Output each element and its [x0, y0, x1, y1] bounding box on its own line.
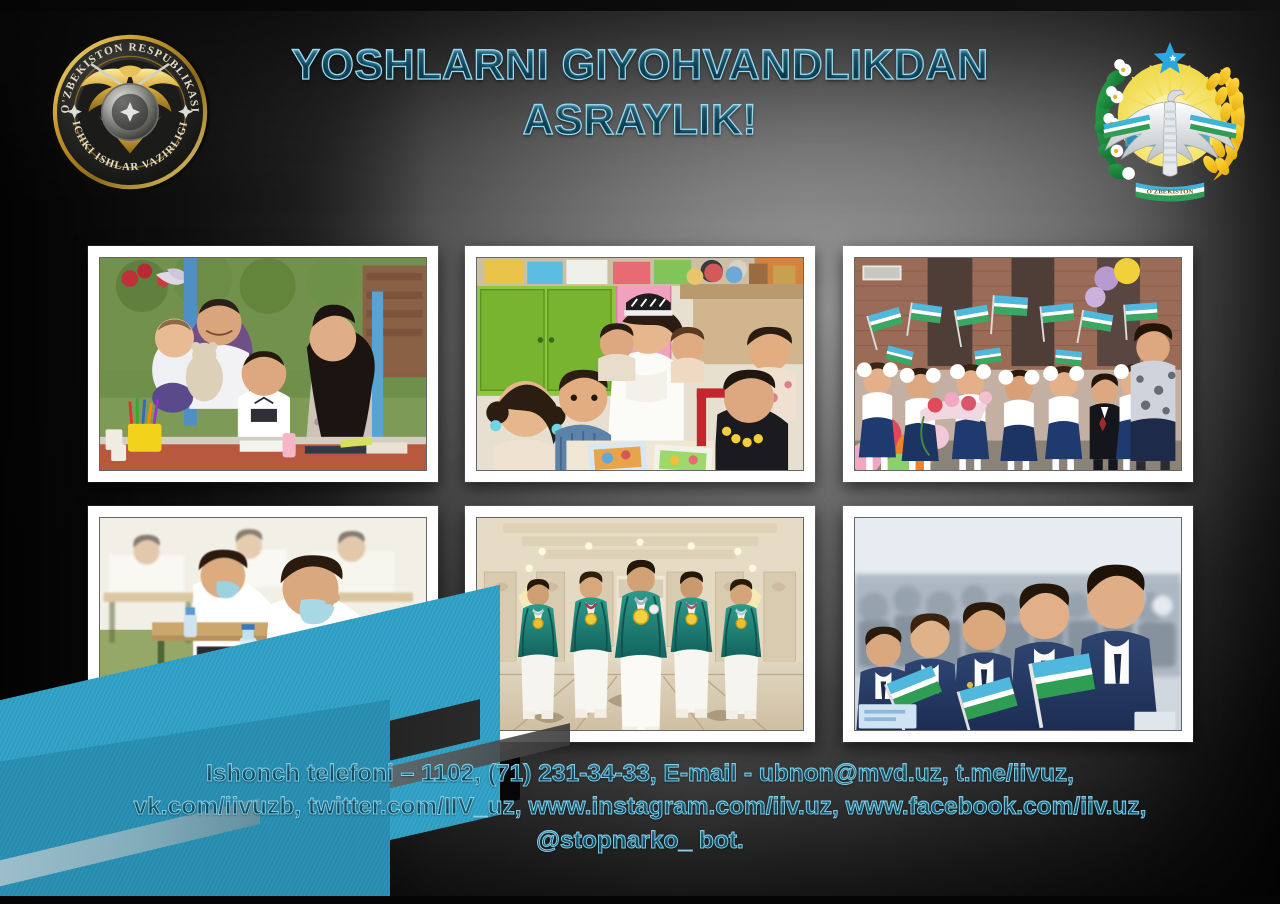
- poster-header: O'ZBEKISTON RESPUBLIKASI ICHKI ISHLAR VA…: [0, 0, 1280, 230]
- uzbekistan-coat-of-arms-emblem: O'ZBEKISTON: [1080, 22, 1260, 207]
- photo-frame-students-flags[interactable]: [843, 506, 1193, 742]
- photo-frame-family-garden[interactable]: [88, 246, 438, 482]
- photo-athletes-art: [477, 518, 803, 731]
- title-line-1: YOSHLARNI GIYOHVANDLIKDAN: [200, 38, 1080, 93]
- photo-first-bell-art: [855, 258, 1181, 471]
- photo-kindergarten-art: [477, 258, 803, 471]
- photo-frame-kindergarten-teacher[interactable]: [465, 246, 815, 482]
- footer-line-2: vk.com/iivuzb, twitter.com/IIV_uz, www.i…: [0, 790, 1280, 823]
- coa-banner-text: O'ZBEKISTON: [1147, 188, 1194, 195]
- poster-title: YOSHLARNI GIYOHVANDLIKDAN ASRAYLIK!: [200, 38, 1080, 148]
- photo-frame-athletes-medals[interactable]: [465, 506, 815, 742]
- photo-family-garden-art: [100, 258, 426, 471]
- mvd-seal-emblem: O'ZBEKISTON RESPUBLIKASI ICHKI ISHLAR VA…: [47, 29, 213, 195]
- footer-contacts: Ishonch telefoni – 1102, (71) 231-34-33,…: [0, 757, 1280, 857]
- title-line-2: ASRAYLIK!: [200, 93, 1080, 148]
- adult-woman: [1131, 323, 1176, 471]
- footer-line-1: Ishonch telefoni – 1102, (71) 231-34-33,…: [0, 757, 1280, 790]
- coa-banner: O'ZBEKISTON: [1136, 182, 1204, 201]
- footer-line-3: @stopnarko_ bot.: [0, 824, 1280, 857]
- photo-frame-first-bell-flags[interactable]: [843, 246, 1193, 482]
- poster-root: O'ZBEKISTON RESPUBLIKASI ICHKI ISHLAR VA…: [0, 0, 1280, 904]
- bottom-border-rule: [0, 896, 1280, 904]
- photo-students-flags-art: [855, 518, 1181, 731]
